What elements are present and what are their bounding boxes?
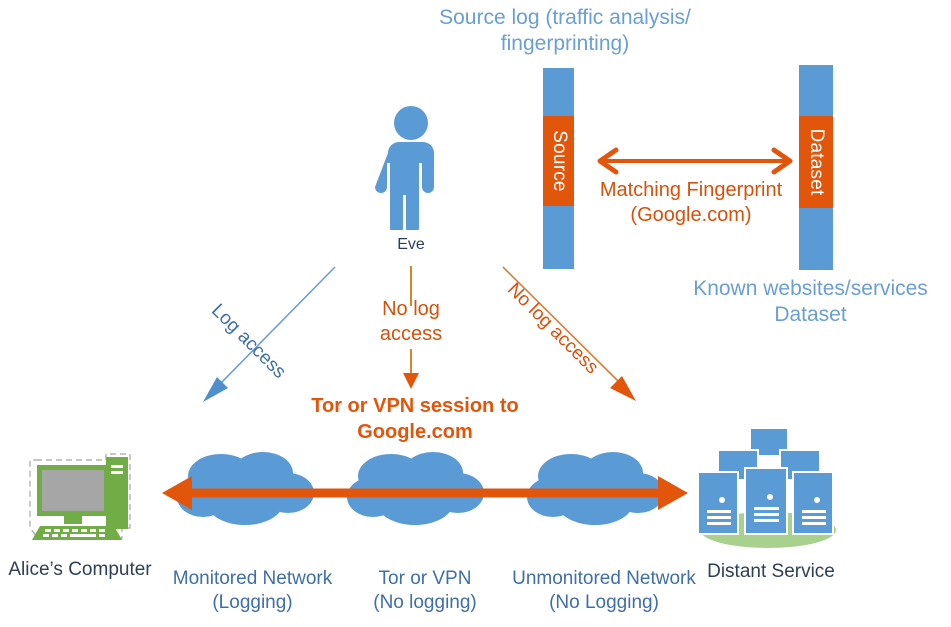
dataset-bar-bottom-segment [799,208,833,270]
matching-fingerprint-line2: (Google.com) [580,203,802,228]
diagram-canvas: Source log (traffic analysis/ fingerprin… [0,0,951,627]
center-access-line1: No log [355,297,467,322]
monitored-network-label-line1: Monitored Network [165,567,340,591]
source-bar-top-segment [543,68,574,116]
dataset-caption-line2: Dataset [670,302,951,328]
center-access-label: No log access [355,297,467,347]
arrow-down-icon [400,349,422,391]
server-stack-icon [695,424,840,548]
tor-or-vpn-label-line2: (No logging) [352,591,498,615]
source-bar: Source [543,68,574,269]
source-bar-label: Source [548,130,570,191]
dataset-bar-label-segment: Dataset [799,116,833,208]
tor-or-vpn-label: Tor or VPN (No logging) [352,567,498,615]
unmonitored-network-label: Unmonitored Network (No Logging) [508,567,700,615]
person-icon [375,105,447,230]
dataset-bar-label: Dataset [805,129,827,196]
dataset-bar-top-segment [799,65,833,116]
session-label-line2: Google.com [274,419,556,445]
session-label: Tor or VPN session to Google.com [274,393,556,445]
dataset-caption: Known websites/services Dataset [670,276,951,328]
source-bar-label-segment: Source [543,116,574,206]
monitored-network-label: Monitored Network (Logging) [165,567,340,615]
dataset-caption-line1: Known websites/services [670,276,951,302]
source-bar-bottom-segment [543,206,574,269]
session-label-line1: Tor or VPN session to [274,393,556,419]
monitored-network-label-line2: (Logging) [165,591,340,615]
source-log-title-line1: Source log (traffic analysis/ [395,5,735,31]
source-log-title-line2: fingerprinting) [395,31,735,57]
dataset-bar: Dataset [799,65,833,270]
tor-or-vpn-label-line1: Tor or VPN [352,567,498,591]
arrow-down-left-icon [195,262,345,407]
double-arrow-horizontal-icon [590,145,800,177]
matching-fingerprint-label: Matching Fingerprint (Google.com) [580,178,802,228]
actor-label: Eve [375,235,447,255]
double-arrow-horizontal-icon [160,472,690,514]
alices-computer-label: Alice’s Computer [0,558,160,582]
distant-service-label: Distant Service [692,560,850,584]
matching-fingerprint-line1: Matching Fingerprint [580,178,802,203]
desktop-computer-icon [18,446,142,550]
source-log-title: Source log (traffic analysis/ fingerprin… [395,5,735,57]
unmonitored-network-label-line1: Unmonitored Network [508,567,700,591]
center-access-line2: access [355,322,467,347]
unmonitored-network-label-line2: (No Logging) [508,591,700,615]
